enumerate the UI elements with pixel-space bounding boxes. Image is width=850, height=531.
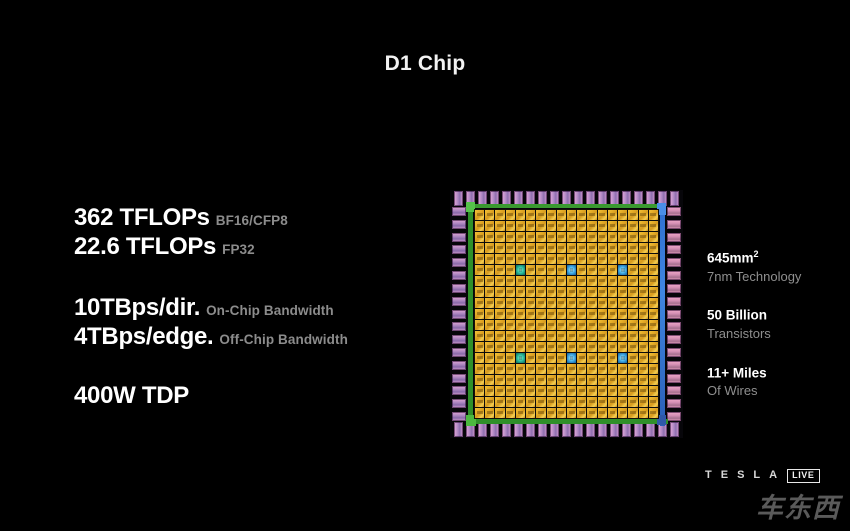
die-core-tile	[526, 232, 535, 242]
die-io-pad	[667, 335, 681, 344]
die-core-tile	[608, 276, 617, 286]
die-core-tile	[506, 309, 515, 319]
die-core-tile	[536, 254, 545, 264]
die-core-tile	[536, 221, 545, 231]
die-core-tile	[485, 408, 494, 418]
die-core-tile	[495, 243, 504, 253]
tesla-letter-t: T	[705, 470, 715, 481]
die-core-tile	[475, 375, 484, 385]
die-core-tile	[598, 353, 607, 363]
die-core-tile	[516, 386, 525, 396]
die-core-tile	[495, 397, 504, 407]
die-core-tile	[536, 309, 545, 319]
die-io-pad	[667, 386, 681, 395]
die-core-tile	[526, 386, 535, 396]
die-core-tile	[516, 397, 525, 407]
tesla-wordmark: TESLA	[705, 470, 780, 481]
die-core-tile	[547, 287, 556, 297]
die-io-pad	[667, 233, 681, 242]
die-core-tile	[618, 397, 627, 407]
die-core-tile	[557, 309, 566, 319]
die-core-tile	[526, 221, 535, 231]
die-core-tile	[598, 210, 607, 220]
die-io-pad	[670, 422, 679, 437]
die-core-tile	[618, 210, 627, 220]
die-core-tile	[618, 364, 627, 374]
die-core-tile	[639, 375, 648, 385]
die-core-tile	[516, 408, 525, 418]
die-core-tile	[495, 232, 504, 242]
die-core-tile	[506, 287, 515, 297]
left-spec-list: 362 TFLOPsBF16/CFP8 22.6 TFLOPsFP32 10TB…	[74, 206, 414, 413]
die-core-tile	[608, 298, 617, 308]
die-core-tile	[536, 397, 545, 407]
die-core-tile	[649, 309, 658, 319]
die-core-tile	[557, 353, 566, 363]
die-core-tile	[587, 386, 596, 396]
die-io-pad	[562, 422, 571, 437]
die-core-tile	[557, 298, 566, 308]
die-core-tile	[516, 364, 525, 374]
die-core-tile	[485, 232, 494, 242]
die-core-tile	[618, 320, 627, 330]
die-io-pad	[667, 348, 681, 357]
die-core-tile	[577, 364, 586, 374]
die-core-tile	[506, 320, 515, 330]
die-core-tile	[495, 331, 504, 341]
die-core-tile	[587, 243, 596, 253]
die-core-tile	[516, 309, 525, 319]
die-core-tile	[547, 221, 556, 231]
die-core-tile	[475, 386, 484, 396]
die-core-tile	[608, 287, 617, 297]
die-core-tile	[547, 342, 556, 352]
die-core-tile	[598, 397, 607, 407]
die-io-pad	[622, 422, 631, 437]
die-core-tile	[475, 243, 484, 253]
die-core-tile	[557, 342, 566, 352]
die-guard-band-bottom	[468, 419, 668, 424]
die-core-tile	[618, 243, 627, 253]
die-core-tile	[628, 320, 637, 330]
die-core-tile	[639, 276, 648, 286]
die-core-tile	[516, 210, 525, 220]
die-core-tile	[587, 309, 596, 319]
die-core-tile	[577, 210, 586, 220]
die-core-tile	[516, 232, 525, 242]
die-core-tile	[547, 353, 556, 363]
die-core-tile	[485, 320, 494, 330]
die-core-tile	[598, 408, 607, 418]
die-core-tile	[577, 397, 586, 407]
die-core-tile	[608, 210, 617, 220]
die-core-tile	[649, 397, 658, 407]
die-core-tile	[577, 254, 586, 264]
die-core-tile	[547, 298, 556, 308]
die-io-pad	[667, 220, 681, 229]
die-core-tile	[587, 265, 596, 275]
die-core-tile	[618, 408, 627, 418]
die-core-tile	[567, 221, 576, 231]
die-core-tile	[475, 298, 484, 308]
die-core-tile	[557, 276, 566, 286]
die-core-tile	[628, 221, 637, 231]
die-core-tile	[557, 265, 566, 275]
die-core-tile	[547, 243, 556, 253]
die-core-tile	[495, 386, 504, 396]
live-badge: LIVE	[787, 469, 819, 483]
die-core-tile	[526, 408, 535, 418]
die-core-tile	[587, 408, 596, 418]
die-core-tile	[598, 320, 607, 330]
right-spec-list: 645mm2 7nm Technology 50 Billion Transis…	[707, 248, 847, 420]
die-core-tile	[485, 276, 494, 286]
die-io-pad	[667, 245, 681, 254]
die-core-tile	[526, 254, 535, 264]
die-core-tile	[506, 331, 515, 341]
die-core-tile	[649, 287, 658, 297]
die-core-tile	[598, 386, 607, 396]
die-core-tile	[598, 265, 607, 275]
die-core-tile	[557, 287, 566, 297]
die-core-tile	[475, 287, 484, 297]
die-io-pad	[502, 422, 511, 437]
die-core-tile	[598, 298, 607, 308]
die-core-tile	[557, 254, 566, 264]
die-core-tile	[639, 364, 648, 374]
die-core-tile	[567, 254, 576, 264]
die-core-tile	[516, 254, 525, 264]
die-core-tile	[628, 254, 637, 264]
die-core-tile	[577, 331, 586, 341]
die-core-tile	[557, 243, 566, 253]
die-core-tile	[526, 276, 535, 286]
die-accent-block	[567, 353, 576, 363]
die-core-tile	[495, 353, 504, 363]
die-io-pad	[667, 207, 681, 216]
die-core-tile	[577, 298, 586, 308]
die-io-pad	[667, 271, 681, 280]
die-core-tile	[649, 331, 658, 341]
die-core-tile	[495, 364, 504, 374]
die-core-tile	[567, 210, 576, 220]
die-io-pad	[452, 348, 466, 357]
die-core-tile	[485, 221, 494, 231]
die-core-tile	[628, 375, 637, 385]
die-core-tile	[526, 287, 535, 297]
die-core-tile	[526, 342, 535, 352]
die-io-pad	[586, 422, 595, 437]
die-core-tile	[547, 386, 556, 396]
die-core-tile	[536, 364, 545, 374]
die-core-tile	[618, 375, 627, 385]
die-core-tile	[628, 309, 637, 319]
die-core-tile	[506, 375, 515, 385]
die-io-pad	[452, 335, 466, 344]
die-core-tile	[516, 287, 525, 297]
die-pad-column-right	[667, 207, 681, 421]
die-io-pad	[667, 361, 681, 370]
die-core-tile	[608, 386, 617, 396]
die-accent-block	[567, 265, 576, 275]
die-core-tile	[536, 320, 545, 330]
die-core-tile	[618, 342, 627, 352]
die-core-tile	[485, 210, 494, 220]
die-io-pad	[670, 191, 679, 206]
die-io-pad	[667, 412, 681, 421]
die-core-tile	[495, 254, 504, 264]
die-core-tile	[639, 265, 648, 275]
die-core-tile	[608, 375, 617, 385]
die-accent-block	[516, 265, 525, 275]
die-core-tile	[526, 298, 535, 308]
die-core-tile	[577, 287, 586, 297]
die-core-tile	[608, 320, 617, 330]
die-io-pad	[667, 322, 681, 331]
die-core-tile	[506, 342, 515, 352]
spec-die-area: 645mm2 7nm Technology	[707, 248, 847, 285]
die-core-tile	[608, 265, 617, 275]
die-core-tile	[567, 331, 576, 341]
die-core-tile	[485, 397, 494, 407]
die-guard-band-top	[468, 204, 666, 208]
die-core-tile	[567, 408, 576, 418]
die-core-tile	[495, 276, 504, 286]
die-core-tile	[495, 320, 504, 330]
die-core-tile	[608, 309, 617, 319]
die-core-tile	[536, 298, 545, 308]
die-core-tile	[567, 397, 576, 407]
die-core-tile	[495, 287, 504, 297]
spec-row-flops-fp32: 22.6 TFLOPsFP32	[74, 235, 414, 259]
die-core-tile	[485, 265, 494, 275]
spec-value: 10TBps/dir.	[74, 294, 200, 321]
die-core-tile	[598, 364, 607, 374]
die-core-tile	[536, 210, 545, 220]
die-core-tile	[608, 342, 617, 352]
die-core-tile	[577, 221, 586, 231]
die-core-tile	[475, 353, 484, 363]
spec-row-tdp: 400W TDP	[74, 384, 414, 408]
die-core-tile	[639, 287, 648, 297]
die-core-tile	[608, 232, 617, 242]
die-core-tile	[639, 232, 648, 242]
die-io-pad	[667, 258, 681, 267]
die-core-tile	[475, 232, 484, 242]
die-core-tile	[485, 364, 494, 374]
die-core-tile	[536, 408, 545, 418]
die-core-tile	[628, 408, 637, 418]
die-io-pad	[514, 422, 523, 437]
tesla-letter-a: A	[769, 470, 780, 481]
die-core-tile	[536, 331, 545, 341]
die-core-tile	[577, 342, 586, 352]
die-core-tile	[567, 386, 576, 396]
die-core-tile	[516, 221, 525, 231]
die-io-pad	[667, 374, 681, 383]
die-core-tile	[475, 364, 484, 374]
die-core-tile	[598, 309, 607, 319]
d1-chip-die-photo	[450, 190, 683, 438]
die-core-tile	[475, 254, 484, 264]
die-core-tile	[567, 276, 576, 286]
spec-sub: Of Wires	[707, 382, 847, 400]
die-core-tile	[587, 353, 596, 363]
die-core-tile	[587, 210, 596, 220]
die-core-tile	[639, 221, 648, 231]
die-core-tile	[506, 243, 515, 253]
die-core-tile	[639, 243, 648, 253]
die-core-tile	[598, 232, 607, 242]
die-core-tile	[485, 331, 494, 341]
die-core-tile	[536, 386, 545, 396]
die-core-tile	[618, 309, 627, 319]
die-core-tile	[618, 331, 627, 341]
die-core-tile	[608, 397, 617, 407]
die-core-tile	[547, 364, 556, 374]
die-core-tile	[526, 243, 535, 253]
die-core-tile	[506, 298, 515, 308]
spec-superscript: 2	[754, 249, 759, 259]
die-core-tile	[475, 408, 484, 418]
die-core-tile	[608, 353, 617, 363]
die-core-tile	[628, 243, 637, 253]
die-io-pad	[452, 310, 466, 319]
die-core-tile	[536, 276, 545, 286]
tesla-branding: TESLA LIVE	[705, 469, 820, 483]
die-core-tile	[557, 386, 566, 396]
die-core-tile	[536, 375, 545, 385]
die-core-tile	[547, 265, 556, 275]
die-io-pad	[452, 322, 466, 331]
die-core-tile	[475, 210, 484, 220]
die-core-tile	[536, 232, 545, 242]
die-core-tile	[587, 331, 596, 341]
die-core-tile	[587, 375, 596, 385]
die-io-pad	[550, 422, 559, 437]
die-core-tile	[506, 232, 515, 242]
die-core-tile	[516, 298, 525, 308]
die-core-tile	[485, 386, 494, 396]
die-core-tile	[628, 265, 637, 275]
die-core-tile	[618, 298, 627, 308]
die-core-tile	[495, 221, 504, 231]
die-core-tile	[587, 320, 596, 330]
die-core-tile	[506, 210, 515, 220]
die-core-tile	[587, 298, 596, 308]
spec-head: 645mm2	[707, 248, 847, 268]
die-io-pad	[452, 297, 466, 306]
die-core-tile	[567, 364, 576, 374]
die-core-tile	[475, 397, 484, 407]
die-core-tile	[485, 309, 494, 319]
die-core-tile	[577, 265, 586, 275]
tesla-letter-e: E	[721, 470, 731, 481]
die-core-tile	[639, 353, 648, 363]
die-core-tile	[649, 298, 658, 308]
die-core-tile	[567, 232, 576, 242]
die-core-tile	[516, 320, 525, 330]
die-io-pad	[667, 284, 681, 293]
die-core-tile	[639, 397, 648, 407]
die-core-tile	[587, 221, 596, 231]
die-io-pad	[452, 207, 466, 216]
spec-unit: Off-Chip Bandwidth	[219, 332, 348, 347]
die-core-tile	[608, 221, 617, 231]
die-core-tile	[567, 298, 576, 308]
die-core-grid	[474, 209, 659, 419]
die-core-tile	[608, 364, 617, 374]
die-core-tile	[536, 287, 545, 297]
die-core-tile	[485, 375, 494, 385]
die-io-pad	[574, 422, 583, 437]
die-core-tile	[526, 364, 535, 374]
spec-sub: Transistors	[707, 325, 847, 343]
spec-value: 362 TFLOPs	[74, 204, 210, 231]
die-core-tile	[628, 386, 637, 396]
die-core-tile	[506, 408, 515, 418]
die-core-tile	[649, 375, 658, 385]
die-io-pad	[452, 284, 466, 293]
die-core-tile	[598, 331, 607, 341]
die-io-pad	[452, 258, 466, 267]
die-core-tile	[547, 331, 556, 341]
die-core-tile	[526, 309, 535, 319]
spec-value: 400W TDP	[74, 382, 189, 409]
die-package	[450, 190, 683, 438]
die-core-tile	[547, 397, 556, 407]
spec-row-offchip-bandwidth: 4TBps/edge.Off-Chip Bandwidth	[74, 325, 414, 349]
die-core-tile	[567, 320, 576, 330]
die-core-tile	[475, 320, 484, 330]
page-title: D1 Chip	[0, 52, 850, 76]
die-io-pad	[452, 361, 466, 370]
die-core-tile	[547, 210, 556, 220]
die-accent-block	[516, 353, 525, 363]
die-core-tile	[516, 342, 525, 352]
spec-row-flops-bf16: 362 TFLOPsBF16/CFP8	[74, 206, 414, 230]
die-core-tile	[506, 221, 515, 231]
die-core-tile	[587, 397, 596, 407]
die-core-tile	[547, 320, 556, 330]
tesla-letter-s: S	[737, 470, 747, 481]
die-core-tile	[485, 342, 494, 352]
die-core-tile	[567, 243, 576, 253]
die-core-tile	[547, 309, 556, 319]
spacer	[74, 264, 414, 296]
die-io-pad	[452, 271, 466, 280]
die-core-tile	[536, 342, 545, 352]
die-core-tile	[557, 364, 566, 374]
spec-wire-length: 11+ Miles Of Wires	[707, 363, 847, 400]
die-io-pad	[454, 422, 463, 437]
die-core-tile	[526, 397, 535, 407]
die-core-tile	[639, 254, 648, 264]
die-core-tile	[649, 276, 658, 286]
die-io-pad	[452, 220, 466, 229]
die-core-tile	[628, 342, 637, 352]
die-io-pad	[452, 245, 466, 254]
die-core-tile	[628, 232, 637, 242]
die-core-tile	[628, 331, 637, 341]
die-core-tile	[577, 276, 586, 286]
die-core-tile	[639, 408, 648, 418]
die-core-tile	[628, 353, 637, 363]
spec-head-text: 645mm	[707, 251, 754, 266]
die-core-tile	[475, 342, 484, 352]
die-core-tile	[639, 342, 648, 352]
watermark: 车东西	[756, 486, 840, 525]
